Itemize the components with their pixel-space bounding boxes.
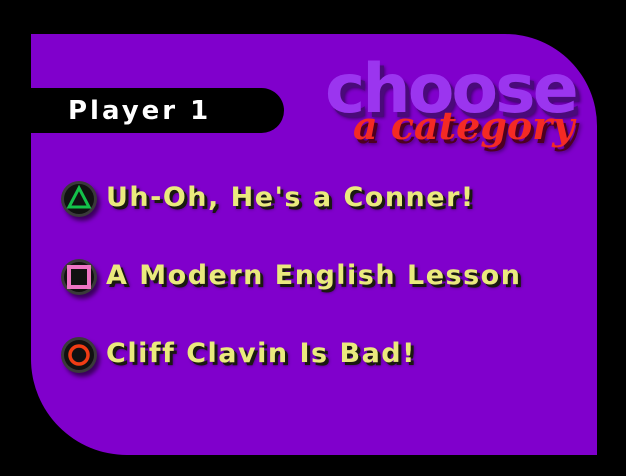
game-screen: Player 1 choose a category Uh-Oh, He's a… (0, 0, 626, 476)
menu-item-a-modern-english-lesson[interactable]: A Modern English Lesson (60, 254, 580, 332)
menu-item-label: A Modern English Lesson (106, 256, 521, 296)
category-menu: Uh-Oh, He's a Conner! A Modern English L… (60, 176, 580, 410)
playstation-triangle-button-icon (60, 180, 98, 218)
playstation-square-button-icon (60, 258, 98, 296)
title-sub-text: a category (353, 106, 574, 146)
menu-item-label: Cliff Clavin Is Bad! (106, 334, 416, 374)
player-label: Player 1 (68, 92, 268, 130)
menu-item-cliff-clavin-is-bad[interactable]: Cliff Clavin Is Bad! (60, 332, 580, 410)
menu-item-label: Uh-Oh, He's a Conner! (106, 178, 475, 218)
menu-item-uh-oh-hes-a-conner[interactable]: Uh-Oh, He's a Conner! (60, 176, 580, 254)
screen-title: choose a category (325, 56, 600, 156)
playstation-circle-button-icon (60, 336, 98, 374)
